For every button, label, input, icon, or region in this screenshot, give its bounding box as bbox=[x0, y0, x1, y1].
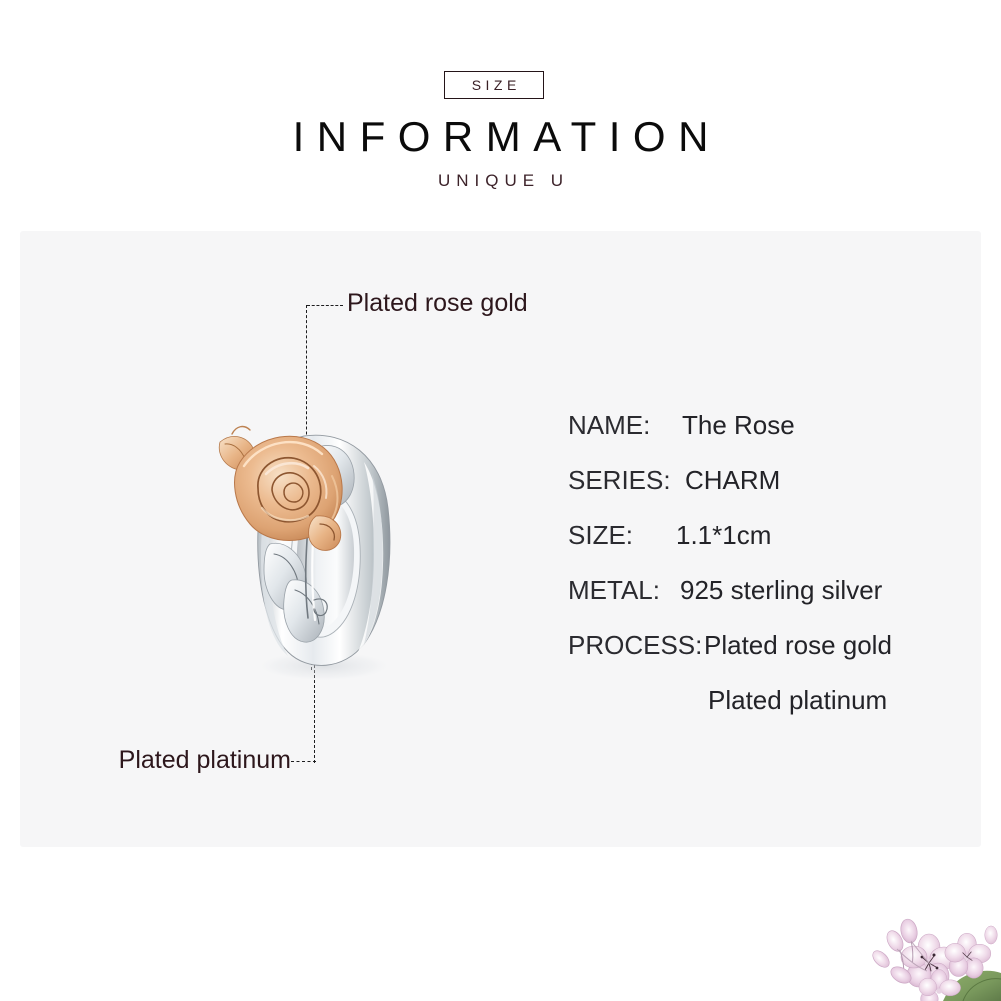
spec-row-metal: METAL: 925 sterling silver bbox=[568, 576, 968, 631]
spec-row-size: SIZE: 1.1*1cm bbox=[568, 521, 968, 576]
header-section: SIZE INFORMATION UNIQUE U bbox=[0, 0, 1001, 231]
spec-row-process-second-line: Plated platinum bbox=[568, 686, 968, 730]
spec-row-series: SERIES: CHARM bbox=[568, 466, 968, 521]
size-badge-label: SIZE bbox=[467, 78, 521, 92]
spec-value-series: CHARM bbox=[685, 466, 780, 495]
spec-label-series: SERIES: bbox=[568, 466, 671, 495]
spec-value-metal: 925 sterling silver bbox=[680, 576, 882, 605]
spec-value-size: 1.1*1cm bbox=[676, 521, 771, 550]
page-subtitle: UNIQUE U bbox=[0, 172, 1001, 191]
callout-label-plated-platinum: Plated platinum bbox=[119, 746, 291, 775]
spec-value-process-second: Plated platinum bbox=[708, 686, 887, 715]
spec-row-process: PROCESS: Plated rose gold bbox=[568, 631, 968, 686]
spec-label-metal: METAL: bbox=[568, 576, 660, 605]
spec-value-process: Plated rose gold bbox=[704, 631, 892, 660]
spec-label-process: PROCESS: bbox=[568, 631, 702, 660]
spec-label-size: SIZE: bbox=[568, 521, 633, 550]
blossom-flowers bbox=[870, 918, 998, 1001]
cherry-blossom-decoration bbox=[851, 901, 1001, 1001]
size-badge: SIZE bbox=[444, 71, 544, 99]
product-image-rose-ring bbox=[196, 404, 444, 694]
callout-label-plated-rose-gold: Plated rose gold bbox=[347, 289, 528, 318]
page-title: INFORMATION bbox=[0, 113, 1001, 160]
spec-value-name: The Rose bbox=[682, 411, 795, 440]
spec-label-name: NAME: bbox=[568, 411, 650, 440]
spec-row-name: NAME: The Rose bbox=[568, 411, 968, 466]
product-spec-list: NAME: The Rose SERIES: CHARM SIZE: 1.1*1… bbox=[568, 411, 968, 730]
blossom-leaf bbox=[943, 971, 1001, 1001]
